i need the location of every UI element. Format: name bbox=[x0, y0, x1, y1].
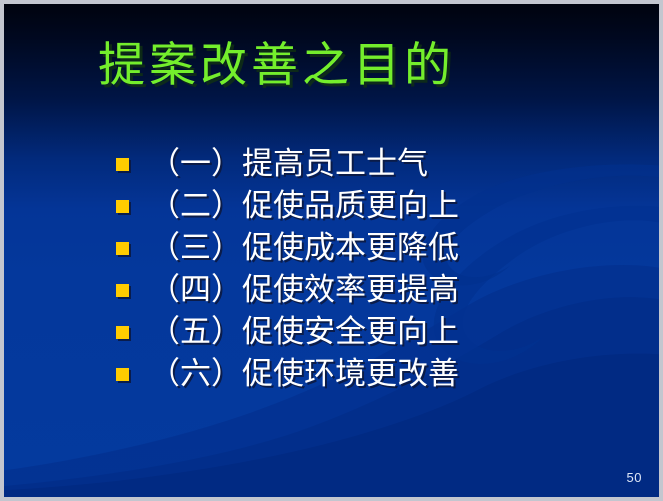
list-item-label: （六）促使环境更改善 bbox=[149, 358, 459, 389]
square-bullet-icon bbox=[116, 326, 129, 339]
presentation-slide: 提案改善之目的 （一）提高员工士气 （二）促使品质更向上 （三）促使成本更降低 … bbox=[0, 0, 663, 501]
list-item: （二）促使品质更向上 bbox=[116, 184, 639, 226]
list-item: （四）促使效率更提高 bbox=[116, 268, 639, 310]
list-item: （一）提高员工士气 bbox=[116, 142, 639, 184]
square-bullet-icon bbox=[116, 158, 129, 171]
square-bullet-icon bbox=[116, 242, 129, 255]
list-item: （六）促使环境更改善 bbox=[116, 352, 639, 394]
list-item-label: （一）提高员工士气 bbox=[149, 148, 428, 179]
list-item-label: （二）促使品质更向上 bbox=[149, 190, 459, 221]
square-bullet-icon bbox=[116, 368, 129, 381]
list-item: （五）促使安全更向上 bbox=[116, 310, 639, 352]
page-number: 50 bbox=[627, 470, 642, 485]
bullet-list: （一）提高员工士气 （二）促使品质更向上 （三）促使成本更降低 （四）促使效率更… bbox=[116, 142, 639, 394]
list-item-label: （五）促使安全更向上 bbox=[149, 316, 459, 347]
slide-title: 提案改善之目的 bbox=[4, 42, 659, 91]
list-item-label: （三）促使成本更降低 bbox=[149, 232, 459, 263]
square-bullet-icon bbox=[116, 284, 129, 297]
square-bullet-icon bbox=[116, 200, 129, 213]
list-item: （三）促使成本更降低 bbox=[116, 226, 639, 268]
list-item-label: （四）促使效率更提高 bbox=[149, 274, 459, 305]
